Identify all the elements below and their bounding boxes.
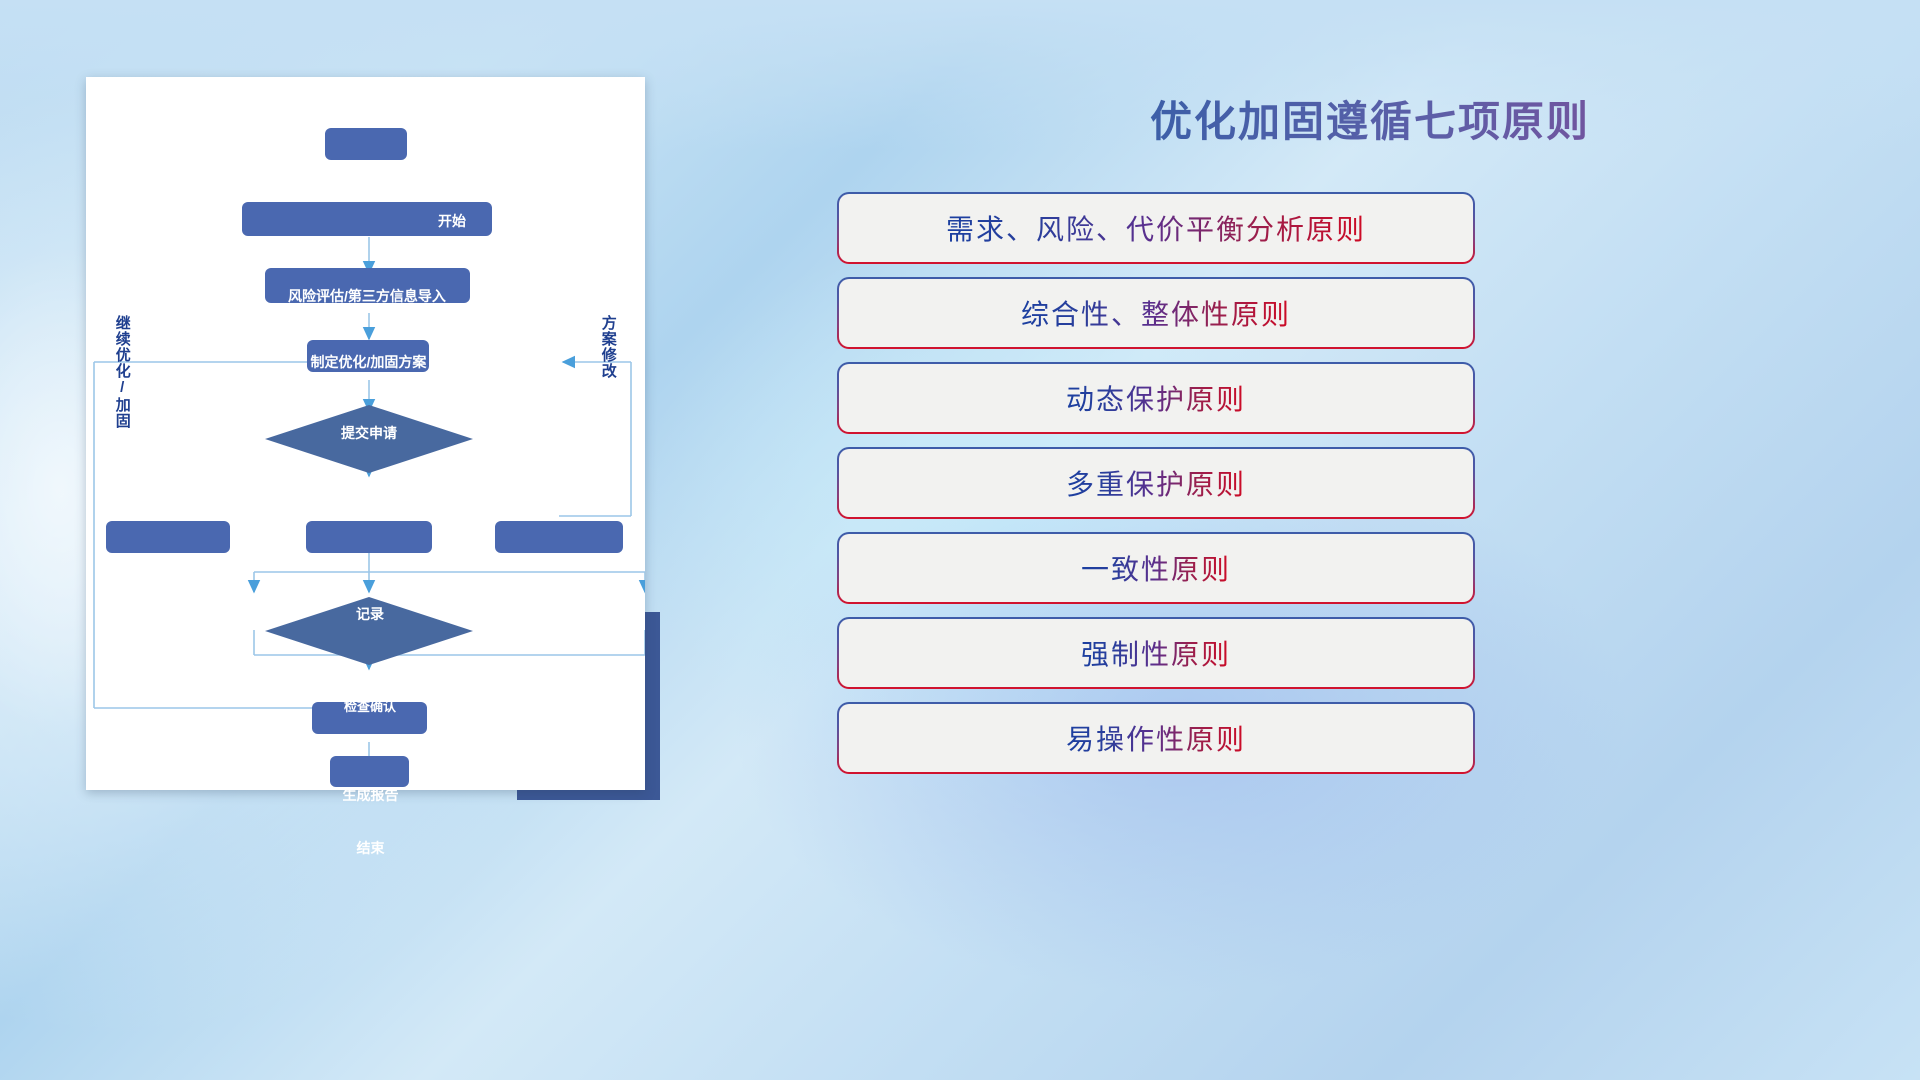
principle-inner: 动态保护原则: [839, 364, 1473, 432]
principle-text: 易操作性原则: [1066, 718, 1246, 758]
principle-item-4[interactable]: 多重保护原则: [837, 447, 1475, 519]
flow-rect: [306, 521, 432, 553]
principle-text: 动态保护原则: [1066, 378, 1246, 418]
principle-text: 一致性原则: [1081, 548, 1231, 588]
principle-text: 综合性、整体性原则: [1021, 293, 1291, 333]
flow-rect: [495, 521, 623, 553]
principle-item-5[interactable]: 一致性原则: [837, 532, 1475, 604]
principle-item-6[interactable]: 强制性原则: [837, 617, 1475, 689]
edge-label-plan-revise: 方案修改: [600, 315, 616, 420]
flowchart-connectors: [86, 77, 645, 790]
flowchart-card: 开始 风险评估/第三方信息导入 制定优化/加固方案 提交申请 业主方确认 加固/…: [86, 77, 645, 790]
flow-diamond: [265, 405, 473, 473]
principle-inner: 需求、风险、代价平衡分析原则: [839, 194, 1473, 262]
principle-item-7[interactable]: 易操作性原则: [837, 702, 1475, 774]
principle-inner: 易操作性原则: [839, 704, 1473, 772]
principle-inner: 综合性、整体性原则: [839, 279, 1473, 347]
flow-rect: [242, 202, 492, 236]
flow-rect: [307, 340, 429, 372]
principle-item-3[interactable]: 动态保护原则: [837, 362, 1475, 434]
principle-text: 多重保护原则: [1066, 463, 1246, 503]
edge-label-continue-optimize: 继续优化/加固: [114, 315, 130, 455]
principle-inner: 强制性原则: [839, 619, 1473, 687]
principle-item-1[interactable]: 需求、风险、代价平衡分析原则: [837, 192, 1475, 264]
flow-rect: [265, 268, 470, 303]
flow-rect: [325, 128, 407, 160]
principles-panel: 优化加固遵循七项原则 需求、风险、代价平衡分析原则 综合性、整体性原则 动态保护…: [820, 0, 1920, 1080]
panel-title: 优化加固遵循七项原则: [820, 88, 1920, 149]
principle-text: 强制性原则: [1081, 633, 1231, 673]
flow-rect: [106, 521, 230, 553]
flow-rect: [330, 756, 409, 787]
principle-item-2[interactable]: 综合性、整体性原则: [837, 277, 1475, 349]
principle-inner: 多重保护原则: [839, 449, 1473, 517]
principle-inner: 一致性原则: [839, 534, 1473, 602]
principle-text: 需求、风险、代价平衡分析原则: [946, 208, 1366, 248]
principle-list: 需求、风险、代价平衡分析原则 综合性、整体性原则 动态保护原则 多重保护原则 一…: [837, 192, 1920, 787]
flow-rect: [312, 702, 427, 734]
